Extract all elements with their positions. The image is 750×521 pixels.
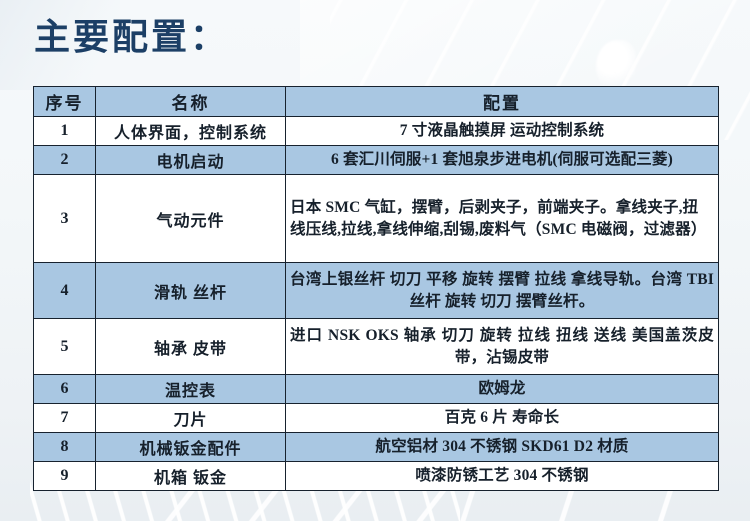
row-spec: 6 套汇川伺服+1 套旭泉步进电机(伺服可选配三菱): [286, 146, 719, 175]
row-spec: 百克 6 片 寿命长: [286, 404, 719, 433]
table-row: 2 电机启动 6 套汇川伺服+1 套旭泉步进电机(伺服可选配三菱): [34, 146, 719, 175]
table-row: 6 温控表 欧姆龙: [34, 375, 719, 404]
row-name: 温控表: [96, 375, 286, 404]
row-spec: 台湾上银丝杆 切刀 平移 旋转 摆臂 拉线 拿线导轨。台湾 TBI 丝杆 旋转 …: [286, 263, 719, 319]
table-row: 3 气动元件 日本 SMC 气缸，摆臂，后剥夹子，前端夹子。拿线夹子,扭线压线,…: [34, 175, 719, 263]
table-header-row: 序号 名称 配置: [34, 87, 719, 117]
spec-table: 序号 名称 配置 1 人体界面，控制系统 7 寸液晶触摸屏 运动控制系统 2 电…: [33, 86, 719, 491]
row-no: 7: [34, 404, 96, 433]
row-name: 机箱 钣金: [96, 462, 286, 491]
column-header-spec: 配置: [286, 87, 719, 117]
row-name: 刀片: [96, 404, 286, 433]
row-name: 机械钣金配件: [96, 433, 286, 462]
row-name: 气动元件: [96, 175, 286, 263]
table-row: 5 轴承 皮带 进口 NSK OKS 轴承 切刀 旋转 拉线 扭线 送线 美国盖…: [34, 319, 719, 375]
table-row: 9 机箱 钣金 喷漆防锈工艺 304 不锈钢: [34, 462, 719, 491]
row-name: 人体界面，控制系统: [96, 117, 286, 146]
row-no: 1: [34, 117, 96, 146]
slide-page: 主要配置： 序号 名称 配置 1 人体界面，控制系统 7 寸液晶触摸屏 运动控制…: [0, 0, 750, 521]
row-spec: 日本 SMC 气缸，摆臂，后剥夹子，前端夹子。拿线夹子,扭线压线,拉线,拿线伸缩…: [286, 175, 719, 263]
table-row: 4 滑轨 丝杆 台湾上银丝杆 切刀 平移 旋转 摆臂 拉线 拿线导轨。台湾 TB…: [34, 263, 719, 319]
row-spec: 7 寸液晶触摸屏 运动控制系统: [286, 117, 719, 146]
row-no: 4: [34, 263, 96, 319]
spec-table-container: 序号 名称 配置 1 人体界面，控制系统 7 寸液晶触摸屏 运动控制系统 2 电…: [33, 86, 718, 491]
row-spec: 欧姆龙: [286, 375, 719, 404]
table-row: 1 人体界面，控制系统 7 寸液晶触摸屏 运动控制系统: [34, 117, 719, 146]
row-no: 2: [34, 146, 96, 175]
row-spec: 航空铝材 304 不锈钢 SKD61 D2 材质: [286, 433, 719, 462]
row-name: 电机启动: [96, 146, 286, 175]
row-no: 3: [34, 175, 96, 263]
spec-table-head: 序号 名称 配置: [34, 87, 719, 117]
row-spec: 进口 NSK OKS 轴承 切刀 旋转 拉线 扭线 送线 美国盖茨皮带，沾锡皮带: [286, 319, 719, 375]
column-header-no: 序号: [34, 87, 96, 117]
spec-table-body: 1 人体界面，控制系统 7 寸液晶触摸屏 运动控制系统 2 电机启动 6 套汇川…: [34, 117, 719, 491]
row-name: 轴承 皮带: [96, 319, 286, 375]
page-title: 主要配置：: [34, 18, 229, 58]
table-row: 7 刀片 百克 6 片 寿命长: [34, 404, 719, 433]
background-top-blob: [596, 40, 636, 92]
table-row: 8 机械钣金配件 航空铝材 304 不锈钢 SKD61 D2 材质: [34, 433, 719, 462]
row-no: 9: [34, 462, 96, 491]
row-no: 5: [34, 319, 96, 375]
row-spec: 喷漆防锈工艺 304 不锈钢: [286, 462, 719, 491]
row-no: 6: [34, 375, 96, 404]
column-header-name: 名称: [96, 87, 286, 117]
row-no: 8: [34, 433, 96, 462]
row-name: 滑轨 丝杆: [96, 263, 286, 319]
